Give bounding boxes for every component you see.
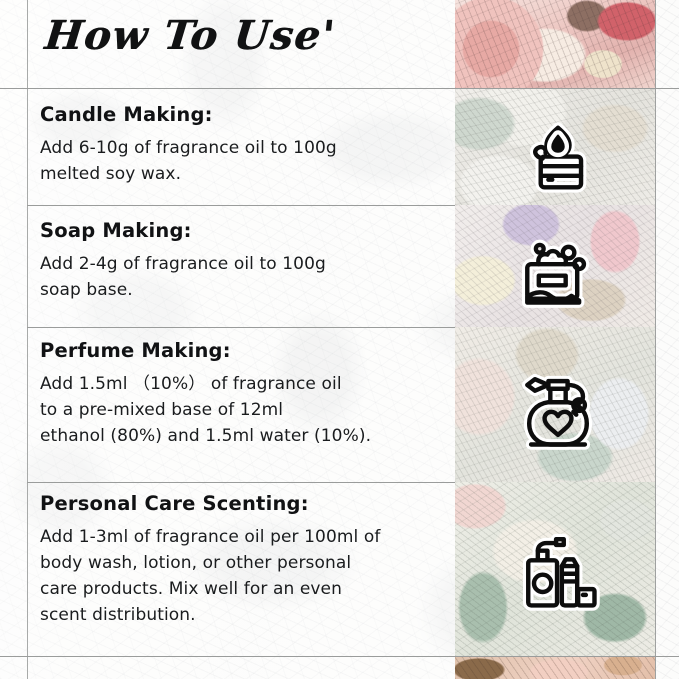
section-body-perfume-making: Add 1.5ml （10%） of fragrance oil to a pr… [40,371,450,449]
divider-under-title [0,88,679,89]
section-perfume-making: Perfume Making: Add 1.5ml （10%） of fragr… [40,339,450,449]
candle-icon [510,99,606,195]
section-body-candle-making: Add 6-10g of fragrance oil to 100g melte… [40,135,450,187]
divider-bottom [0,656,679,657]
photo-column-right-border [655,0,656,679]
left-margin-vertical-rule [27,0,28,679]
section-body-soap-making: Add 2-4g of fragrance oil to 100g soap b… [40,251,450,303]
divider-perfume-personal-care [27,482,455,483]
section-soap-making: Soap Making: Add 2-4g of fragrance oil t… [40,219,450,303]
right-gutter-strip [655,0,679,679]
section-body-personal-care-scenting: Add 1-3ml of fragrance oil per 100ml of … [40,524,450,628]
section-heading-candle-making: Candle Making: [40,103,450,126]
section-heading-soap-making: Soap Making: [40,219,450,242]
section-candle-making: Candle Making: Add 6-10g of fragrance oi… [40,103,450,187]
how-to-use-infographic: How To Use' Candle Making: Add 6-10g of … [0,0,679,679]
page-title: How To Use' [43,14,338,58]
section-personal-care-scenting: Personal Care Scenting: Add 1-3ml of fra… [40,492,450,628]
personal-care-products-icon [510,520,606,616]
soap-bar-icon [510,220,606,316]
photo-band-roses-top [455,0,655,89]
section-heading-perfume-making: Perfume Making: [40,339,450,362]
perfume-bottle-icon [510,360,606,456]
photo-band-floral-bottom [455,656,655,679]
section-heading-personal-care-scenting: Personal Care Scenting: [40,492,450,515]
divider-soap-perfume [27,327,455,328]
divider-candle-soap [27,205,455,206]
